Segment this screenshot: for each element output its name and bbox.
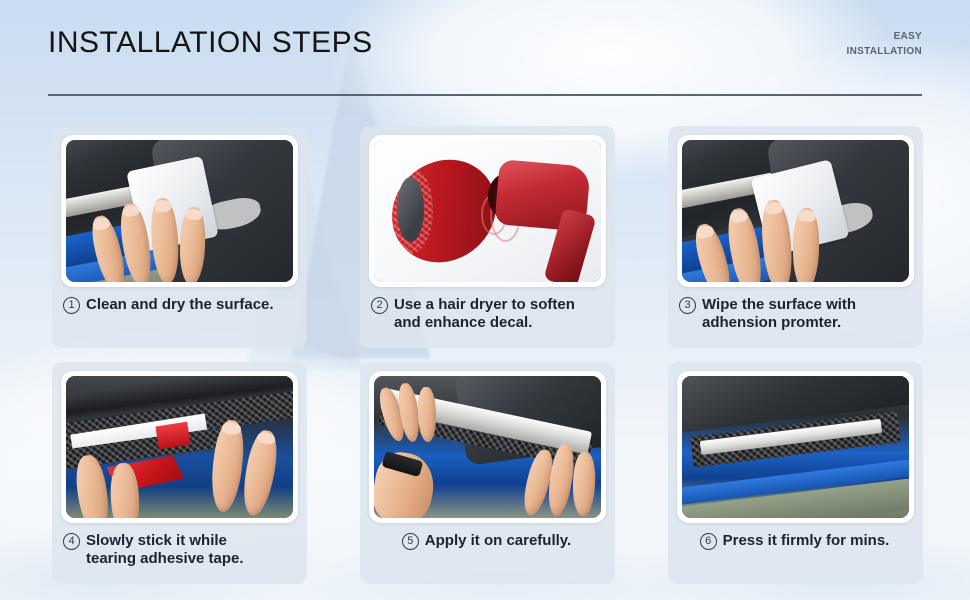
step-text-1: Clean and dry the surface. bbox=[86, 296, 274, 314]
step-text-2-line-2: and enhance decal. bbox=[394, 314, 575, 332]
step-text-6: Press it firmly for mins. bbox=[723, 532, 890, 550]
tagline: EASY INSTALLATION bbox=[847, 30, 922, 59]
step-text-4: Slowly stick it while tearing adhesive t… bbox=[86, 532, 244, 568]
step-text-4-line-2: tearing adhesive tape. bbox=[86, 550, 244, 568]
hand-illustration-left bbox=[75, 450, 157, 518]
step-text-2-line-1: Use a hair dryer to soften bbox=[394, 296, 575, 314]
step-text-3-line-2: adhension promter. bbox=[702, 314, 856, 332]
step-text-4-line-1: Slowly stick it while bbox=[86, 532, 244, 550]
steps-grid: 1 Clean and dry the surface. bbox=[52, 126, 918, 584]
page-header: INSTALLATION STEPS EASY INSTALLATION bbox=[0, 0, 970, 110]
step-number-6: 6 bbox=[700, 533, 717, 550]
step-number-5: 5 bbox=[402, 533, 419, 550]
step-text-3-line-1: Wipe the surface with bbox=[702, 296, 856, 314]
step-photo-frame-3 bbox=[677, 135, 914, 287]
step-card-4: 4 Slowly stick it while tearing adhesive… bbox=[52, 362, 307, 584]
step-text-1-line-1: Clean and dry the surface. bbox=[86, 296, 274, 314]
step-photo-6 bbox=[682, 376, 909, 518]
step-photo-frame-1 bbox=[61, 135, 298, 287]
step-caption-4: 4 Slowly stick it while tearing adhesive… bbox=[61, 532, 298, 568]
step-number-3: 3 bbox=[679, 297, 696, 314]
step-card-5: 5 Apply it on carefully. bbox=[360, 362, 615, 584]
step-text-3: Wipe the surface with adhension promter. bbox=[702, 296, 856, 332]
step-caption-1: 1 Clean and dry the surface. bbox=[61, 296, 298, 314]
step-number-1: 1 bbox=[63, 297, 80, 314]
tagline-line-2: INSTALLATION bbox=[847, 45, 922, 60]
step-caption-3: 3 Wipe the surface with adhension promte… bbox=[677, 296, 914, 332]
hand-illustration-right bbox=[211, 416, 284, 518]
step-card-1: 1 Clean and dry the surface. bbox=[52, 126, 307, 348]
step-card-6: 6 Press it firmly for mins. bbox=[668, 362, 923, 584]
step-photo-frame-5 bbox=[369, 371, 606, 523]
step-text-6-line-1: Press it firmly for mins. bbox=[723, 532, 890, 550]
installation-steps-page: INSTALLATION STEPS EASY INSTALLATION bbox=[0, 0, 970, 600]
step-number-4: 4 bbox=[63, 533, 80, 550]
step-text-5-line-1: Apply it on carefully. bbox=[425, 532, 571, 550]
step-card-3: 3 Wipe the surface with adhension promte… bbox=[668, 126, 923, 348]
step-text-2: Use a hair dryer to soften and enhance d… bbox=[394, 296, 575, 332]
hand-illustration-right bbox=[524, 441, 601, 518]
header-divider bbox=[48, 94, 922, 96]
hand-illustration bbox=[93, 188, 229, 282]
step-caption-6: 6 Press it firmly for mins. bbox=[677, 532, 914, 550]
hand-illustration-left bbox=[379, 379, 447, 447]
step-photo-1 bbox=[66, 140, 293, 282]
step-photo-5 bbox=[374, 376, 601, 518]
step-photo-frame-6 bbox=[677, 371, 914, 523]
step-text-5: Apply it on carefully. bbox=[425, 532, 571, 550]
tagline-line-1: EASY bbox=[847, 30, 922, 45]
step-photo-4 bbox=[66, 376, 293, 518]
step-photo-frame-4 bbox=[61, 371, 298, 523]
step-photo-2 bbox=[374, 140, 601, 282]
step-caption-5: 5 Apply it on carefully. bbox=[369, 532, 606, 550]
step-photo-frame-2 bbox=[369, 135, 606, 287]
step-photo-3 bbox=[682, 140, 909, 282]
step-caption-2: 2 Use a hair dryer to soften and enhance… bbox=[369, 296, 606, 332]
hand-illustration bbox=[700, 191, 845, 282]
step-card-2: 2 Use a hair dryer to soften and enhance… bbox=[360, 126, 615, 348]
page-title: INSTALLATION STEPS bbox=[48, 26, 373, 60]
step-number-2: 2 bbox=[371, 297, 388, 314]
